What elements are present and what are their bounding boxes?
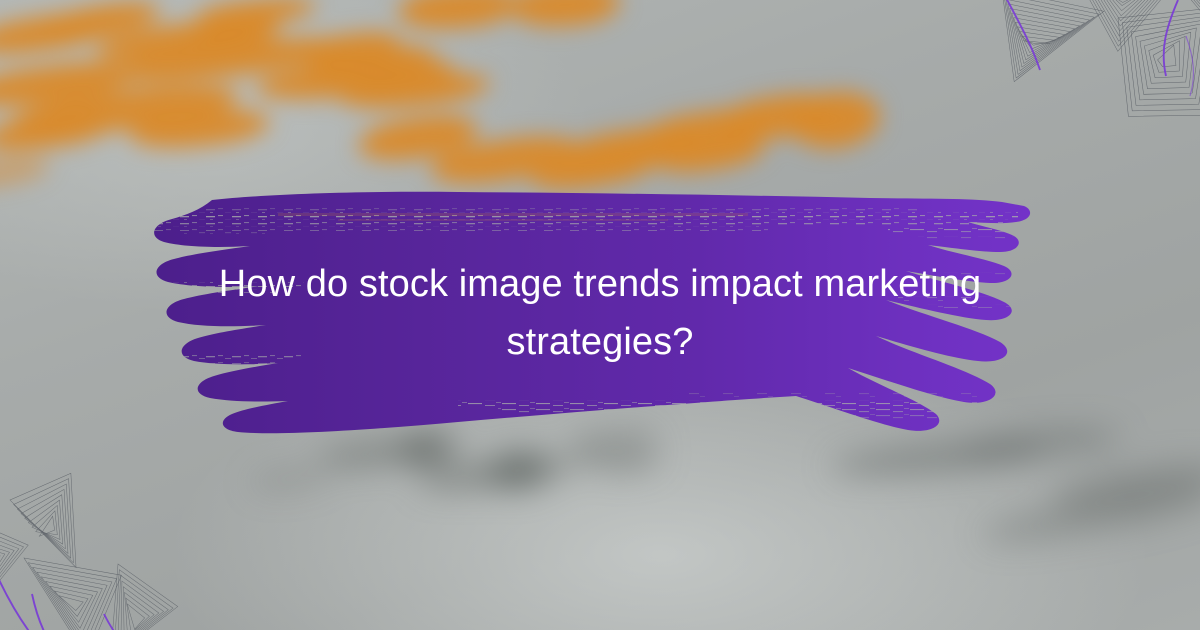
headline-line-1: How do stock image trends impact marketi… [150,255,1050,313]
share-card-canvas: How do stock image trends impact marketi… [0,0,1200,630]
headline: How do stock image trends impact marketi… [150,255,1050,371]
headline-line-2: strategies? [150,313,1050,371]
